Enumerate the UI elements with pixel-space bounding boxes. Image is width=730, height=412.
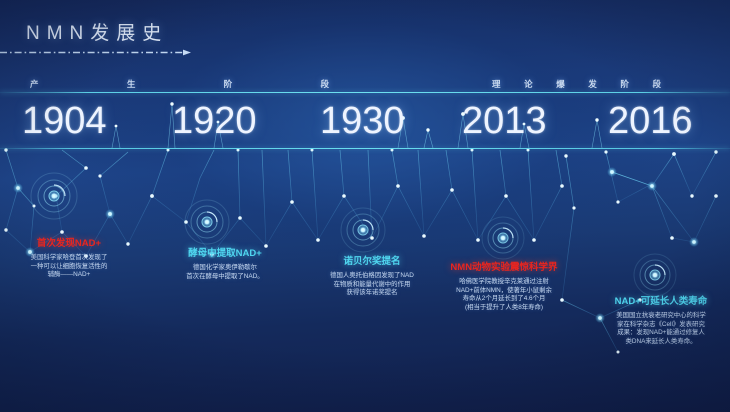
event-card-2013[interactable]: NMN动物实验震惊科学界 哈佛医学院教授辛克莱通过注射 NAD+前体NMN，使著…	[424, 262, 584, 312]
event-body-line: 哈佛医学院教授辛克莱通过注射	[424, 278, 584, 287]
phase-char: 理	[492, 78, 502, 90]
year-1920: 1920	[172, 96, 257, 146]
phase-char: 段	[652, 78, 662, 90]
phase-char: 论	[524, 78, 534, 90]
event-body-line: 类DNA来延长人类寿命。	[592, 338, 730, 347]
phase-char: 阶	[224, 78, 234, 90]
phase-char: 阶	[620, 78, 630, 90]
event-body-line: 美国科学家哈登首次发现了	[0, 254, 138, 263]
phase-char: 生	[127, 78, 137, 90]
divider-mid	[0, 148, 730, 149]
event-body-line: 辅酶——NAD+	[0, 271, 138, 280]
event-body-line: 寿命从2个月延长到了4.6个月	[424, 295, 584, 304]
dash-dot-arrow-icon	[0, 49, 196, 56]
title-block: NMN发展史	[26, 18, 168, 45]
phase-label-production: 产 生 阶 段	[30, 78, 330, 90]
divider-top	[0, 92, 730, 93]
phase-label-theory-boom: 理 论 爆 发 阶 段	[492, 78, 662, 90]
phase-char: 爆	[556, 78, 566, 90]
event-body-line: 美国国立抗衰老研究中心的科学	[592, 312, 730, 321]
event-body-line: 家在科学杂志《Cell》发表研究	[592, 321, 730, 330]
event-headline: 首次发现NAD+	[0, 238, 138, 250]
event-body-line: NAD+前体NMN，使著年小鼠剩余	[424, 287, 584, 296]
phase-char: 段	[320, 78, 330, 90]
event-body-line: 首次在酵母中提取了NAD。	[155, 273, 295, 282]
event-body: 德国化学家奥伊勒歇尔 首次在酵母中提取了NAD。	[155, 264, 295, 281]
event-body: 哈佛医学院教授辛克莱通过注射 NAD+前体NMN，使著年小鼠剩余 寿命从2个月延…	[424, 278, 584, 312]
phase-char: 产	[30, 78, 40, 90]
year-1904: 1904	[22, 96, 107, 146]
event-card-1904[interactable]: 首次发现NAD+ 美国科学家哈登首次发现了 一种可以让细胞恢复活性的 辅酶——N…	[0, 238, 138, 280]
year-2016: 2016	[608, 96, 693, 146]
year-2013: 2013	[462, 96, 547, 146]
event-body: 美国科学家哈登首次发现了 一种可以让细胞恢复活性的 辅酶——NAD+	[0, 254, 138, 280]
year-row: 1904 1920 1930 2013 2016	[0, 96, 730, 146]
event-card-1920[interactable]: 酵母中提取NAD+ 德国化学家奥伊勒歇尔 首次在酵母中提取了NAD。	[155, 248, 295, 281]
event-body-line: (相当于提升了人类8年寿命)	[424, 304, 584, 313]
event-headline: NAD+可延长人类寿命	[592, 296, 730, 308]
event-body-line: 成果：发现NAD+能通过修复人	[592, 329, 730, 338]
page-title: NMN发展史	[26, 18, 168, 45]
year-1930: 1930	[320, 96, 405, 146]
slide-canvas: NMN发展史 产 生 阶 段 理 论 爆 发 阶 段 1904 1920 193…	[0, 0, 730, 412]
event-card-2016[interactable]: NAD+可延长人类寿命 美国国立抗衰老研究中心的科学 家在科学杂志《Cell》发…	[592, 296, 730, 346]
event-headline: 酵母中提取NAD+	[155, 248, 295, 260]
event-body-line: 德国化学家奥伊勒歇尔	[155, 264, 295, 273]
phase-char: 发	[588, 78, 598, 90]
constellation-network	[0, 0, 730, 412]
event-body-line: 一种可以让细胞恢复活性的	[0, 263, 138, 272]
event-headline: NMN动物实验震惊科学界	[424, 262, 584, 274]
event-body: 美国国立抗衰老研究中心的科学 家在科学杂志《Cell》发表研究 成果：发现NAD…	[592, 312, 730, 346]
